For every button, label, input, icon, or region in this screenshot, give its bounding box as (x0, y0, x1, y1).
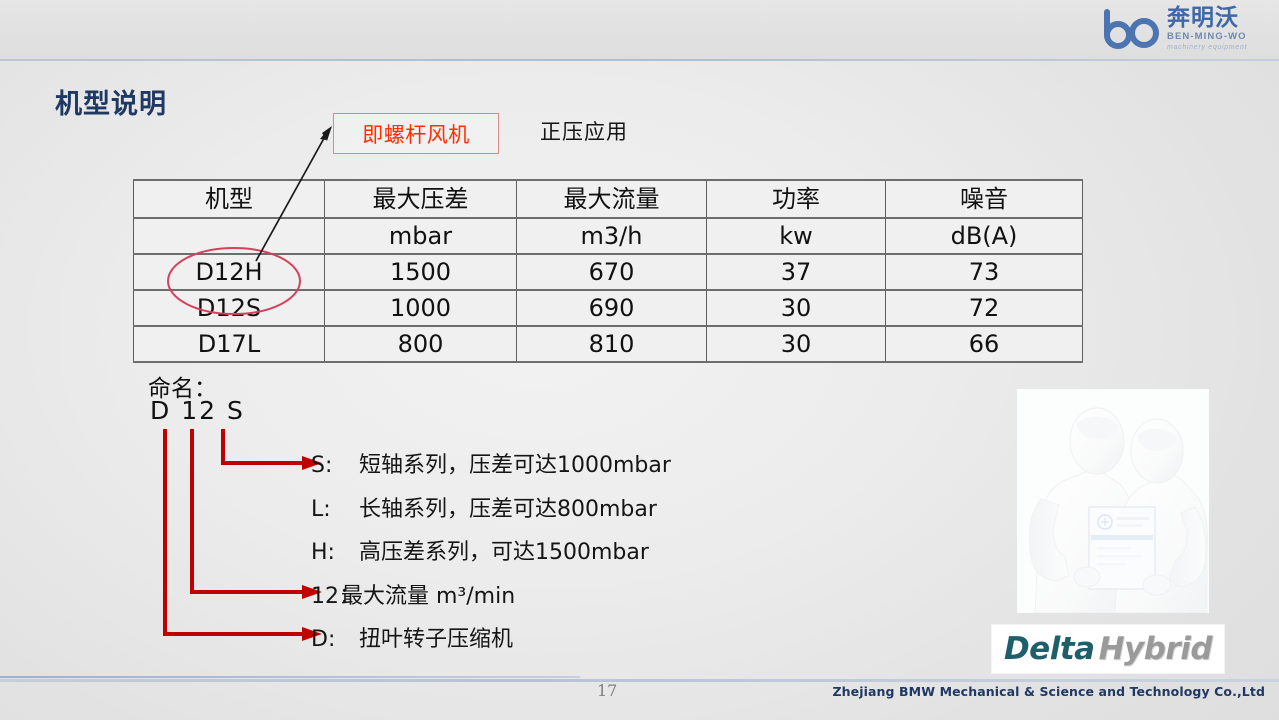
legend-key: L: (311, 497, 359, 522)
table-cell: 72 (886, 290, 1083, 326)
brand-name-en: BEN-MING-WO (1167, 32, 1247, 42)
page-title: 机型说明 (55, 82, 167, 121)
table-cell: 810 (517, 326, 707, 362)
slide-canvas: 奔明沃 BEN-MING-WO machinery equipment 机型说明… (0, 0, 1279, 720)
table-cell: 37 (707, 254, 886, 290)
table-cell-model: D17L (134, 326, 325, 362)
callout-box: 即螺杆风机 (333, 113, 499, 154)
table-header-cell: 最大压差 (325, 180, 517, 218)
table-unit-cell (134, 218, 325, 254)
bo-circles-logo-icon (1101, 9, 1163, 49)
table-unit-cell: dB(A) (886, 218, 1083, 254)
table-cell: 66 (886, 326, 1083, 362)
table-cell: 690 (517, 290, 707, 326)
table-cell-model: D12S (134, 290, 325, 326)
product-logo-hybrid: Hybrid (1099, 631, 1212, 667)
table-cell: 30 (707, 290, 886, 326)
footer-company-name: Zhejiang BMW Mechanical & Science and Te… (833, 684, 1265, 699)
spec-table-body: 机型 最大压差 最大流量 功率 噪音 mbar m3/h kw dB(A) D1… (134, 180, 1083, 362)
page-number: 17 (597, 681, 617, 700)
legend-desc: 短轴系列，压差可达1000mbar (359, 447, 671, 479)
application-note: 正压应用 (540, 116, 628, 146)
table-unit-cell: mbar (325, 218, 517, 254)
legend-item-12: 12： 最大流量 m³/min (311, 578, 671, 622)
footer-divider-accent (0, 676, 580, 678)
naming-connector-12-icon (192, 429, 305, 592)
table-cell: 73 (886, 254, 1083, 290)
company-logo: 奔明沃 BEN-MING-WO machinery equipment (1101, 3, 1273, 55)
table-header-cell: 机型 (134, 180, 325, 218)
brand-name-cn: 奔明沃 (1167, 7, 1247, 30)
header-divider (0, 59, 1279, 61)
legend-desc: 扭叶转子压缩机 (359, 621, 513, 653)
legend-key: H: (311, 540, 359, 565)
table-header-cell: 噪音 (886, 180, 1083, 218)
naming-legend-list: S: 短轴系列，压差可达1000mbar L: 长轴系列，压差可达800mbar… (311, 447, 671, 665)
table-row: D12H 1500 670 37 73 (134, 254, 1083, 290)
table-header-cell: 功率 (707, 180, 886, 218)
product-logo: Delta Hybrid (991, 624, 1225, 674)
table-cell: 670 (517, 254, 707, 290)
legend-item-d: D: 扭叶转子压缩机 (311, 621, 671, 665)
legend-desc: 最大流量 m³/min (341, 578, 515, 610)
legend-key: D: (311, 627, 359, 652)
legend-desc: 长轴系列，压差可达800mbar (359, 491, 657, 523)
callout-box-label: 即螺杆风机 (362, 119, 470, 149)
table-unit-cell: m3/h (517, 218, 707, 254)
naming-connector-d-icon (165, 429, 305, 634)
table-row: D17L 800 810 30 66 (134, 326, 1083, 362)
table-header-row: 机型 最大压差 最大流量 功率 噪音 (134, 180, 1083, 218)
table-cell: 1500 (325, 254, 517, 290)
table-row: D12S 1000 690 30 72 (134, 290, 1083, 326)
spec-table: 机型 最大压差 最大流量 功率 噪音 mbar m3/h kw dB(A) D1… (133, 179, 1083, 363)
legend-key: S: (311, 453, 359, 478)
naming-code: D 12 S (150, 396, 245, 425)
robots-photo (1017, 389, 1209, 613)
footer-divider (0, 679, 1279, 682)
naming-connector-s-icon (223, 429, 305, 463)
robots-photo-image (1017, 389, 1209, 613)
brand-tagline: machinery equipment (1167, 44, 1247, 51)
table-cell: 800 (325, 326, 517, 362)
table-unit-cell: kw (707, 218, 886, 254)
header-band (0, 0, 1279, 60)
table-units-row: mbar m3/h kw dB(A) (134, 218, 1083, 254)
table-cell: 30 (707, 326, 886, 362)
table-header-cell: 最大流量 (517, 180, 707, 218)
legend-item-s: S: 短轴系列，压差可达1000mbar (311, 447, 671, 491)
legend-item-l: L: 长轴系列，压差可达800mbar (311, 491, 671, 535)
legend-item-h: H: 高压差系列，可达1500mbar (311, 534, 671, 578)
product-logo-delta: Delta (1004, 631, 1095, 667)
table-cell: 1000 (325, 290, 517, 326)
table-cell-model: D12H (134, 254, 325, 290)
legend-desc: 高压差系列，可达1500mbar (359, 534, 649, 566)
legend-key: 12： (311, 578, 341, 610)
